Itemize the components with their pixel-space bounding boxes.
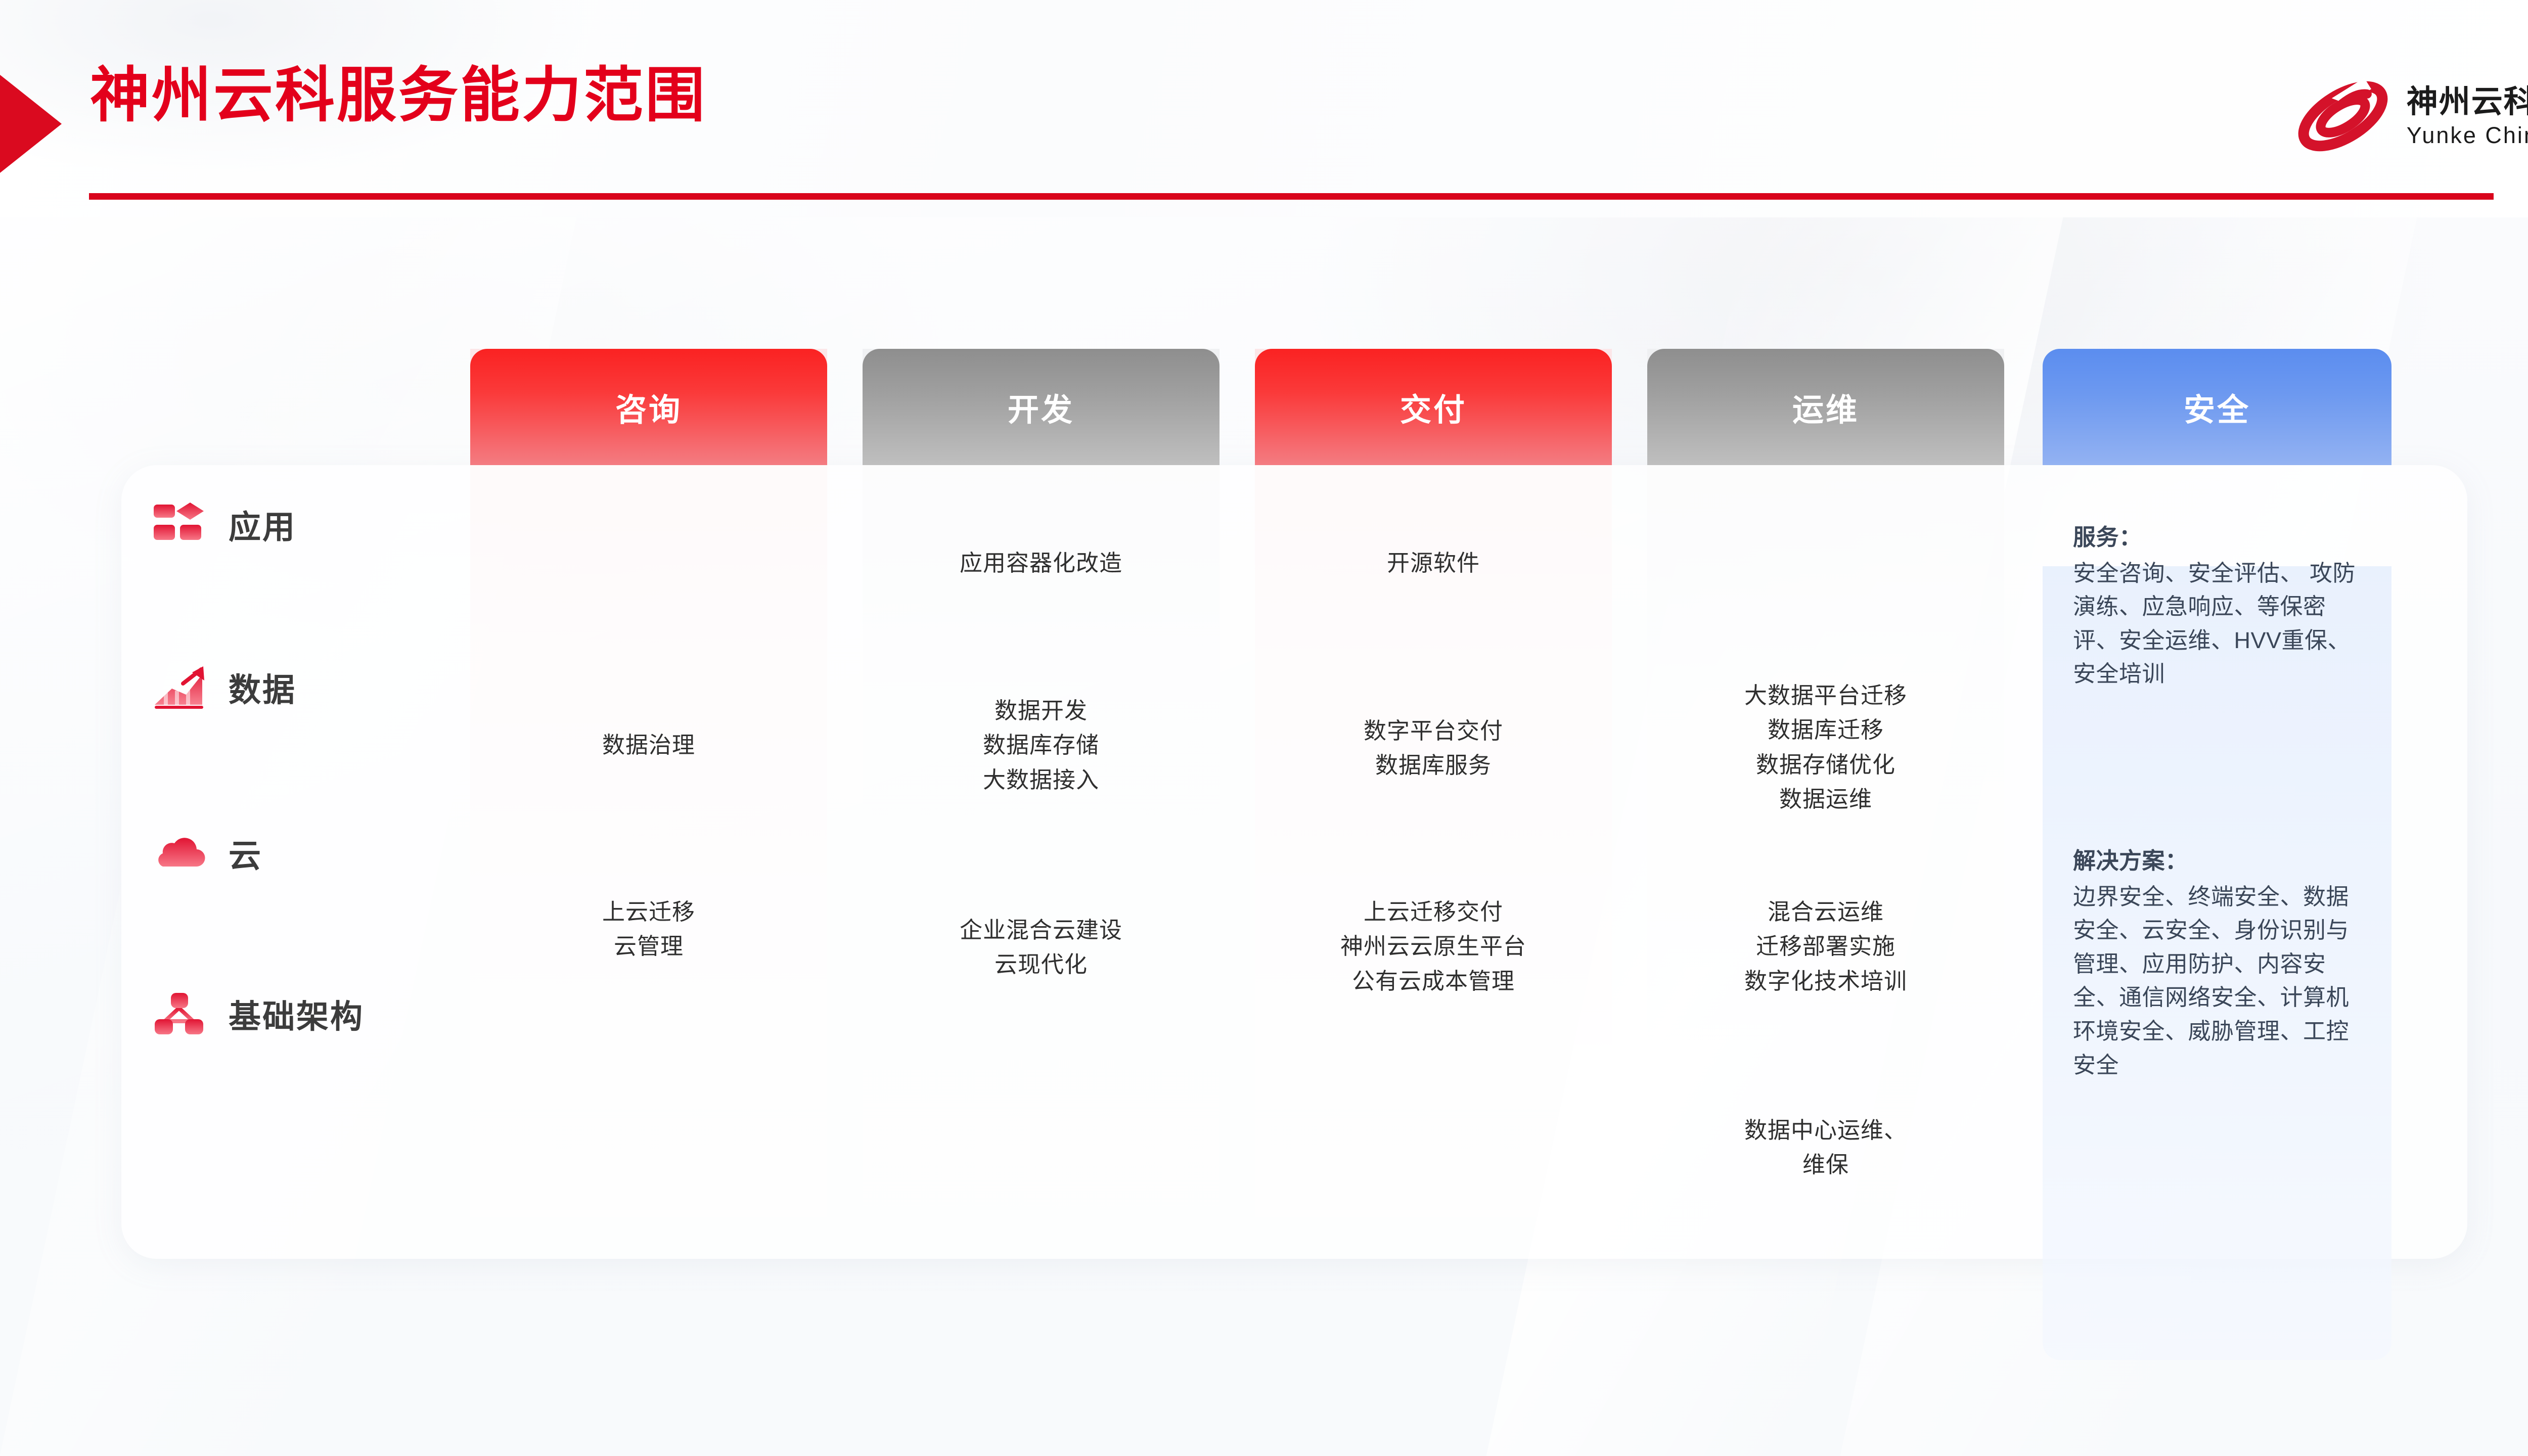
- cell-development-cloud: 企业混合云建设 云现代化: [863, 913, 1220, 982]
- cell-line: 上云迁移: [470, 895, 827, 929]
- network-nodes-icon: [152, 990, 206, 1038]
- cell-consulting-cloud: 上云迁移 云管理: [470, 895, 827, 964]
- cell-delivery-cloud: 上云迁移交付 神州云云原生平台 公有云成本管理: [1255, 895, 1612, 998]
- cell-line: 大数据接入: [863, 763, 1220, 797]
- cell-delivery-app: 开源软件: [1255, 546, 1612, 580]
- cell-line: 云现代化: [863, 947, 1220, 982]
- column-header-label: 开发: [1008, 384, 1074, 430]
- triangle-right-icon: [0, 71, 62, 177]
- security-service-block: 服务： 安全咨询、安全评估、 攻防演练、应急响应、等保密评、安全运维、HVV重保…: [2073, 521, 2356, 691]
- column-header-label: 安全: [2184, 384, 2250, 430]
- cell-line: 数字化技术培训: [1647, 964, 2004, 998]
- cell-consulting-data: 数据治理: [470, 728, 827, 762]
- cell-line: 应用容器化改造: [863, 546, 1220, 580]
- cell-line: 数据库迁移: [1647, 713, 2004, 747]
- security-solution-heading: 解决方案：: [2073, 844, 2356, 878]
- cell-line: 上云迁移交付: [1255, 895, 1612, 929]
- column-header-label: 咨询: [615, 384, 682, 430]
- column-header-label: 交付: [1400, 384, 1467, 430]
- column-header-consulting[interactable]: 咨询: [470, 349, 827, 465]
- title-divider: [89, 193, 2494, 200]
- page-title: 神州云科服务能力范围: [90, 66, 707, 125]
- row-label-cloud: 云: [152, 829, 262, 878]
- cell-line: 混合云运维: [1647, 895, 2004, 929]
- app-blocks-icon: [152, 500, 206, 549]
- column-header-operations[interactable]: 运维: [1647, 349, 2004, 465]
- cell-line: 开源软件: [1255, 546, 1612, 580]
- cell-operations-cloud: 混合云运维 迁移部署实施 数字化技术培训: [1647, 895, 2004, 998]
- security-solution-body: 边界安全、终端安全、数据安全、云安全、身份识别与管理、应用防护、内容安全、通信网…: [2073, 880, 2356, 1082]
- cell-line: 数据存储优化: [1647, 748, 2004, 782]
- cell-delivery-data: 数字平台交付 数据库服务: [1255, 714, 1612, 783]
- bar-chart-arrow-icon: [152, 663, 206, 712]
- cell-line: 云管理: [470, 929, 827, 964]
- cell-line: 大数据平台迁移: [1647, 678, 2004, 713]
- cell-line: 神州云云原生平台: [1255, 929, 1612, 964]
- cell-line: 数字平台交付: [1255, 714, 1612, 748]
- cell-development-app: 应用容器化改造: [863, 546, 1220, 580]
- cell-line: 企业混合云建设: [863, 913, 1220, 947]
- row-label-text: 云: [229, 830, 262, 877]
- cell-line: 公有云成本管理: [1255, 964, 1612, 998]
- column-header-label: 运维: [1792, 384, 1859, 430]
- cell-line: 维保: [1647, 1148, 2004, 1182]
- cell-operations-data: 大数据平台迁移 数据库迁移 数据存储优化 数据运维: [1647, 678, 2004, 817]
- row-label-text: 数据: [229, 664, 296, 711]
- cell-line: 数据中心运维、: [1647, 1113, 2004, 1148]
- row-label-infra: 基础架构: [152, 990, 364, 1038]
- cell-line: 数据库服务: [1255, 748, 1612, 783]
- row-label-text: 应用: [229, 502, 296, 548]
- column-header-security[interactable]: 安全: [2043, 349, 2391, 465]
- logo-name-cn: 神州云科: [2407, 86, 2528, 118]
- cell-line: 数据运维: [1647, 782, 2004, 816]
- cell-line: 数据开发: [863, 694, 1220, 728]
- page-header: 神州云科服务能力范围 神州云科 Yunke China: [0, 0, 2528, 217]
- cell-line: 迁移部署实施: [1647, 929, 2004, 964]
- cell-line: 数据治理: [470, 728, 827, 762]
- capability-matrix: 咨询 开发 交付 运维 安全 应用: [0, 217, 2528, 1456]
- security-solution-block: 解决方案： 边界安全、终端安全、数据安全、云安全、身份识别与管理、应用防护、内容…: [2073, 844, 2356, 1082]
- security-service-body: 安全咨询、安全评估、 攻防演练、应急响应、等保密评、安全运维、HVV重保、安全培…: [2073, 557, 2356, 691]
- security-service-heading: 服务：: [2073, 521, 2356, 555]
- cell-development-data: 数据开发 数据库存储 大数据接入: [863, 694, 1220, 797]
- yunke-swirl-logo-icon: [2292, 76, 2394, 157]
- row-label-text: 基础架构: [229, 991, 364, 1037]
- cloud-icon: [152, 829, 206, 878]
- brand-logo: 神州云科 Yunke China: [2292, 76, 2528, 157]
- column-header-delivery[interactable]: 交付: [1255, 349, 1612, 465]
- column-header-development[interactable]: 开发: [863, 349, 1220, 465]
- cell-line: 数据库存储: [863, 728, 1220, 762]
- row-label-app: 应用: [152, 500, 296, 549]
- row-label-data: 数据: [152, 663, 296, 712]
- logo-name-en: Yunke China: [2407, 124, 2528, 147]
- cell-operations-infra: 数据中心运维、 维保: [1647, 1113, 2004, 1182]
